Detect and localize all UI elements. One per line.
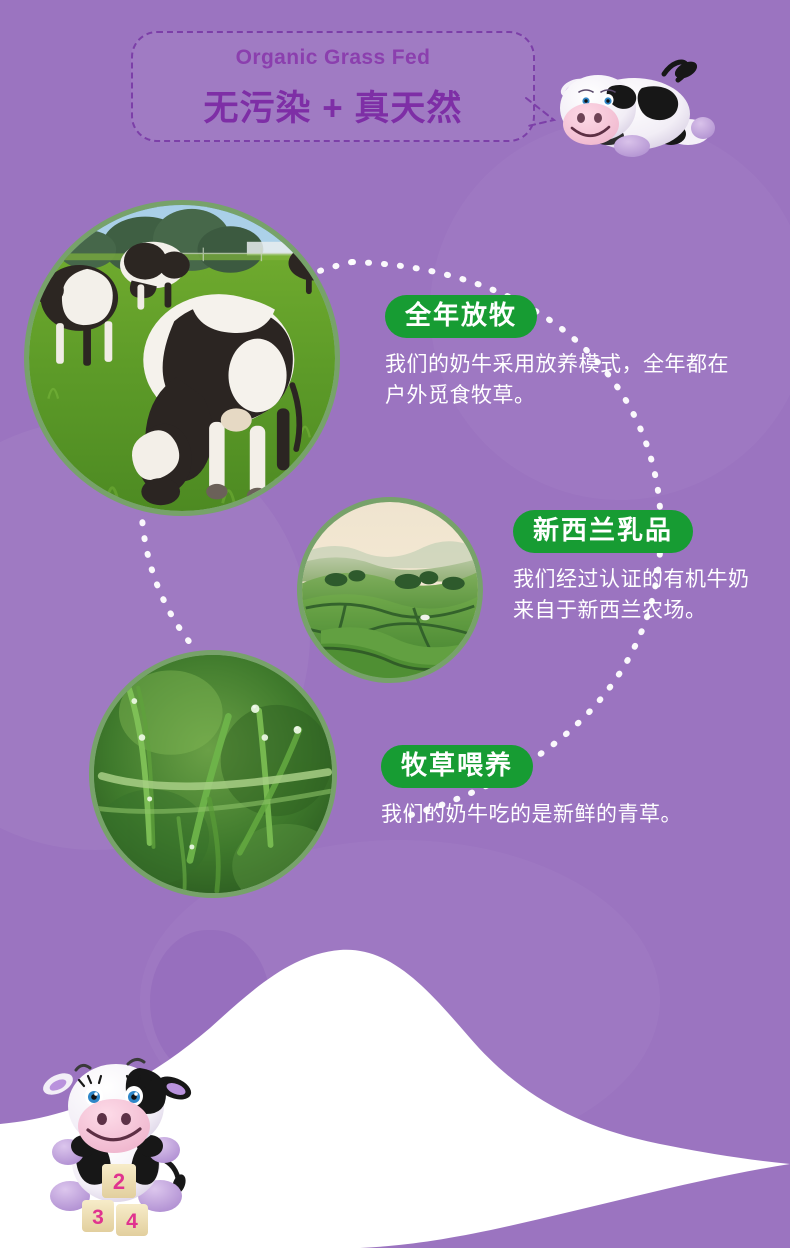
- svg-text:2: 2: [113, 1169, 125, 1194]
- toy-block: 3: [82, 1200, 114, 1232]
- svg-text:3: 3: [92, 1206, 104, 1229]
- photo-year-round-grazing: [24, 200, 340, 516]
- promo-page: Organic Grass Fed 无污染 + 真天然: [0, 0, 790, 1248]
- page-title-chinese: 无污染 + 真天然: [131, 80, 535, 131]
- lying-cow-mascot: [546, 48, 716, 168]
- feature-pill-grass-fed[interactable]: 牧草喂养: [381, 745, 533, 788]
- toy-block: 4: [116, 1204, 148, 1236]
- svg-text:4: 4: [126, 1210, 138, 1233]
- page-tagline-english: Organic Grass Fed: [131, 46, 535, 70]
- sitting-cow-mascot: 2 3 4: [36, 1046, 201, 1242]
- feature-description-new-zealand-dairy: 我们经过认证的有机牛奶 来自于新西兰农场。: [513, 565, 750, 626]
- feature-new-zealand-dairy: 新西兰乳品 我们经过认证的有机牛奶 来自于新西兰农场。: [513, 510, 750, 626]
- feature-description-year-round-grazing: 我们的奶牛采用放养模式，全年都在 户外觅食牧草。: [385, 350, 729, 411]
- feature-pill-year-round-grazing[interactable]: 全年放牧: [385, 295, 537, 338]
- toy-block: 2: [102, 1164, 136, 1198]
- feature-pill-new-zealand-dairy[interactable]: 新西兰乳品: [513, 510, 693, 553]
- feature-description-grass-fed: 我们的奶牛吃的是新鲜的青草。: [381, 800, 682, 830]
- feature-year-round-grazing: 全年放牧 我们的奶牛采用放养模式，全年都在 户外觅食牧草。: [385, 295, 729, 411]
- feature-grass-fed: 牧草喂养 我们的奶牛吃的是新鲜的青草。: [381, 745, 682, 831]
- photo-grass-fed: [89, 650, 337, 898]
